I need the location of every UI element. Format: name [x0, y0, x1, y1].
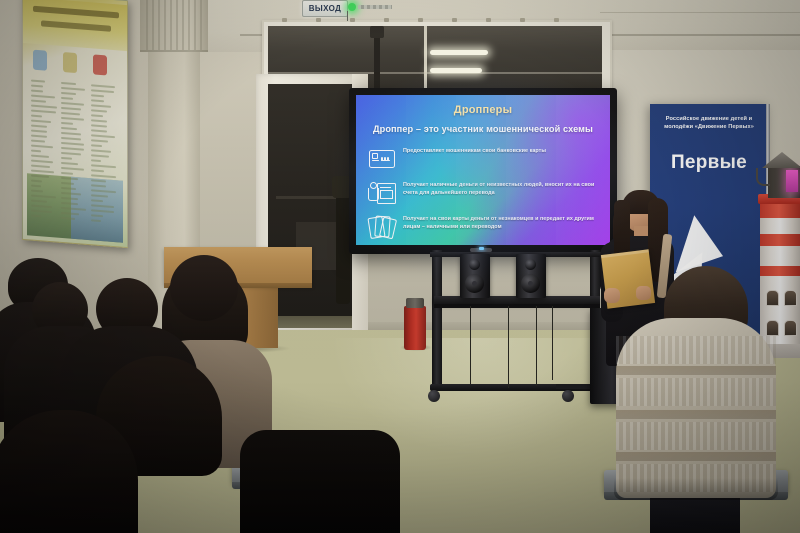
- banner-organization-text: Российское движение детей и молодёжи «Дв…: [656, 115, 762, 131]
- speaker-right: [516, 254, 546, 298]
- poster-icon: [33, 50, 47, 71]
- poster-text-column: [61, 82, 87, 214]
- window-clip: [520, 18, 525, 22]
- pillar-flute: [200, 0, 202, 50]
- photo-scene: ВЫХОД Российское движение детей и молодё…: [0, 0, 800, 533]
- poster-icon: [93, 54, 107, 75]
- speaker-cable: [470, 306, 471, 384]
- audience-member-body: [240, 430, 400, 533]
- poster-text-column: [91, 84, 117, 216]
- hook-icon: [756, 168, 770, 186]
- pillar-flute: [188, 0, 190, 50]
- green-indicator-icon: [348, 3, 356, 11]
- pillar-flute: [152, 0, 154, 50]
- stand-caster: [428, 390, 440, 402]
- poster-text-column: [31, 80, 57, 212]
- lighthouse-window: [766, 290, 779, 306]
- pillar-flute: [194, 0, 196, 50]
- lighthouse-stripe: [760, 266, 800, 276]
- doorway-floor: [268, 316, 354, 328]
- window-mullion: [424, 26, 427, 88]
- speaker-left: [460, 254, 490, 298]
- ceiling-seam-secondary: [600, 12, 800, 13]
- ceiling-lamp-icon: [430, 68, 482, 73]
- window-clip: [452, 18, 457, 22]
- presenter-hand-right: [636, 286, 651, 300]
- interior-fixture: [370, 26, 384, 38]
- speaker-cable: [508, 306, 509, 388]
- extinguisher-valve: [406, 298, 424, 308]
- lighthouse-stripe: [760, 234, 800, 246]
- ceiling-lamp-icon: [430, 50, 488, 55]
- fire-extinguisher-icon: [404, 306, 426, 350]
- stand-caster: [562, 390, 574, 402]
- pillar-flute: [176, 0, 178, 50]
- stand-shelf-front: [434, 304, 600, 308]
- window-clip: [384, 18, 389, 22]
- lighthouse-light-icon: [786, 170, 798, 192]
- lighthouse-window: [766, 320, 779, 336]
- banner-title: Первые: [650, 152, 768, 174]
- pillar-flute: [158, 0, 160, 50]
- window-clip: [486, 18, 491, 22]
- lighthouse-stripe: [760, 204, 800, 218]
- stand-post-left: [432, 250, 442, 388]
- power-led-icon: [479, 247, 484, 250]
- pillar-flute: [164, 0, 166, 50]
- poster-icon: [63, 52, 77, 73]
- window-clip: [316, 18, 321, 22]
- lighthouse-body: [760, 204, 800, 344]
- exit-sign: ВЫХОД: [302, 0, 348, 17]
- screen-light-streak: [556, 95, 610, 245]
- presenter-hand-left: [604, 288, 620, 303]
- speaker-cable: [536, 306, 537, 386]
- window-clip: [554, 18, 559, 22]
- wall-poster: [22, 0, 128, 248]
- seated-person-sweater: [616, 318, 776, 498]
- lighthouse-window: [784, 320, 797, 336]
- speaker-cable: [552, 306, 553, 380]
- exit-sign-label: ВЫХОД: [309, 5, 342, 13]
- window-clip: [282, 18, 287, 22]
- presentation-display[interactable]: Дропперы Дроппер – это участник мошеннич…: [356, 95, 610, 245]
- audience-member-head: [170, 255, 238, 321]
- ceiling-vent: [358, 5, 392, 9]
- window-clip: [418, 18, 423, 22]
- pillar-flute: [170, 0, 172, 50]
- window-clip: [350, 18, 355, 22]
- bench-leg: [616, 496, 626, 533]
- pillar-flute: [146, 0, 148, 50]
- lighthouse-window: [784, 290, 797, 306]
- sweater-shading: [614, 478, 778, 500]
- pillar-flute: [182, 0, 184, 50]
- sign-cable: [347, 11, 348, 21]
- pillar-capital: [140, 0, 208, 52]
